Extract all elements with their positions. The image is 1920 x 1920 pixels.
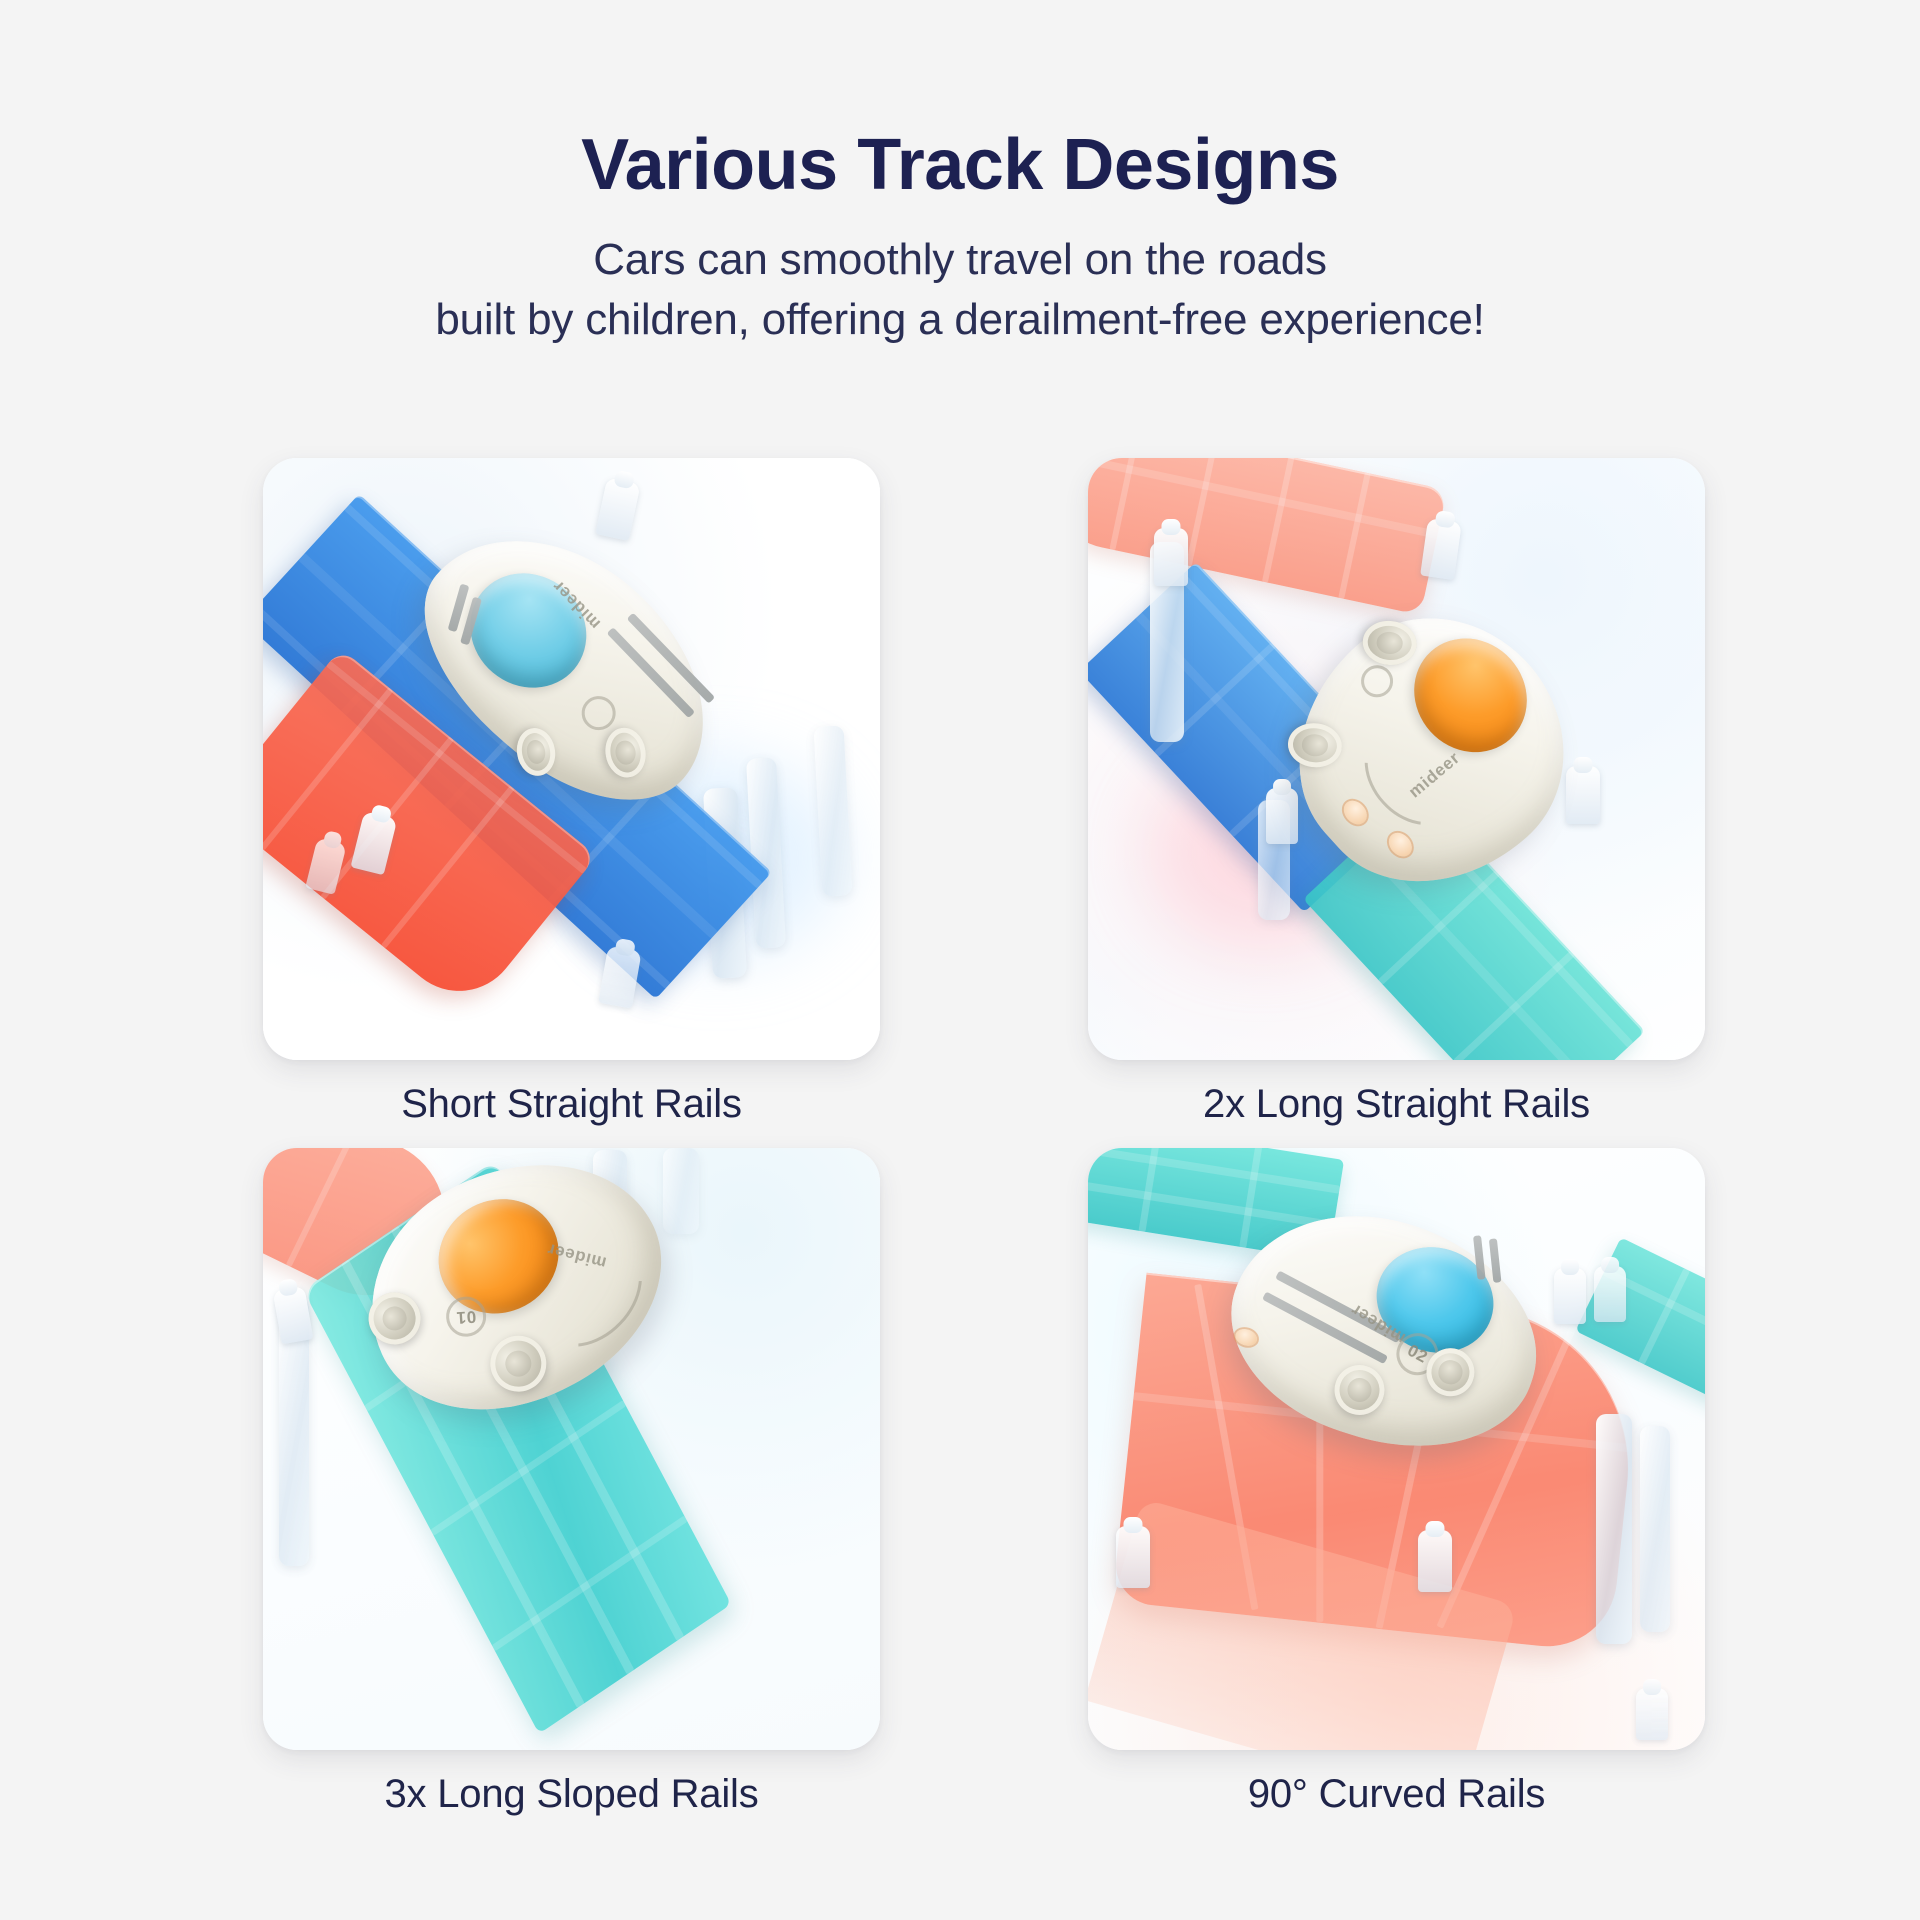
product-photo-short-straight-rails: mideer bbox=[263, 458, 880, 1060]
page-subtitle: Cars can smoothly travel on the roads bu… bbox=[0, 230, 1920, 351]
track-connector-stud bbox=[1154, 528, 1188, 586]
card-caption: 3x Long Sloped Rails bbox=[263, 1772, 880, 1817]
track-connector-stud bbox=[1418, 1530, 1452, 1592]
track-connector-stud bbox=[1594, 1266, 1626, 1322]
card-caption: 2x Long Straight Rails bbox=[1088, 1082, 1705, 1127]
product-photo-long-sloped-rails: mideer 01 bbox=[263, 1148, 880, 1750]
track-pillar bbox=[663, 1148, 699, 1234]
track-connector-stud bbox=[1116, 1526, 1150, 1588]
page-title: Various Track Designs bbox=[0, 128, 1920, 204]
product-photo-curved-rails: mideer 02 bbox=[1088, 1148, 1705, 1750]
track-connector-stud bbox=[1636, 1688, 1668, 1740]
product-feature-page: Various Track Designs Cars can smoothly … bbox=[0, 0, 1920, 1920]
track-pillar bbox=[1596, 1414, 1632, 1644]
subtitle-line-1: Cars can smoothly travel on the roads bbox=[0, 230, 1920, 291]
card-caption: Short Straight Rails bbox=[263, 1082, 880, 1127]
card-long-straight-rails[interactable]: mideer 2x Long Straight Rails bbox=[1088, 458, 1705, 1098]
header: Various Track Designs Cars can smoothly … bbox=[0, 128, 1920, 351]
track-design-grid: mideer Short Straight Rails bbox=[263, 458, 1705, 1788]
subtitle-line-2: built by children, offering a derailment… bbox=[0, 290, 1920, 351]
card-long-sloped-rails[interactable]: mideer 01 3x Long Sloped Rails bbox=[263, 1148, 880, 1788]
track-pillar bbox=[1640, 1426, 1670, 1632]
card-caption: 90° Curved Rails bbox=[1088, 1772, 1705, 1817]
card-curved-rails[interactable]: mideer 02 90° Curved Rails bbox=[1088, 1148, 1705, 1788]
card-short-straight-rails[interactable]: mideer Short Straight Rails bbox=[263, 458, 880, 1098]
product-photo-long-straight-rails: mideer bbox=[1088, 458, 1705, 1060]
